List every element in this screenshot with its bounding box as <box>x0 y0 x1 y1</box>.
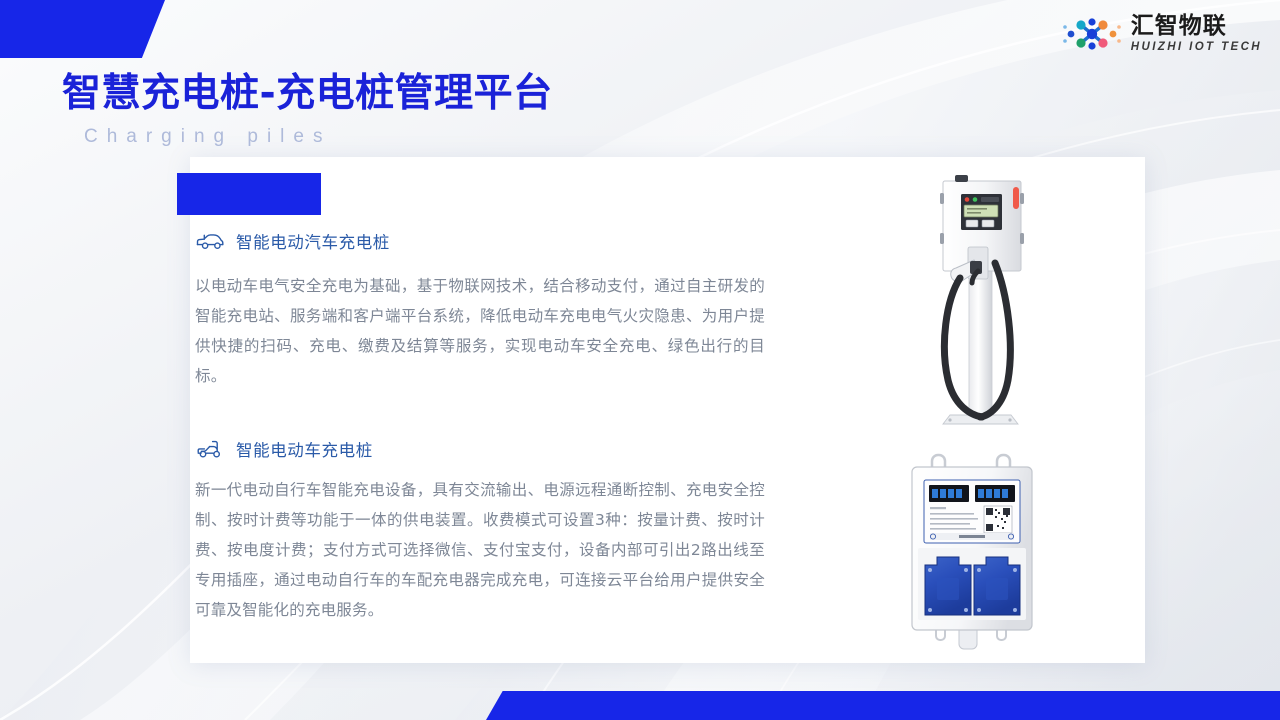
section-heading-car: 智能电动汽车充电桩 <box>190 229 765 253</box>
scooter-icon <box>195 438 225 460</box>
bottom-right-blue-wedge <box>486 691 1280 720</box>
ev-charging-pile-image <box>890 165 1105 430</box>
page-header: 智慧充电桩-充电桩管理平台 Charging piles 汇智物联 HUIZHI… <box>0 0 1280 160</box>
brand-name-en: HUIZHI IOT TECH <box>1131 42 1262 54</box>
section-body-ebike: 新一代电动自行车智能充电设备，具有交流输出、电源远程通断控制、充电安全控制、按时… <box>190 475 765 625</box>
car-icon <box>195 230 225 252</box>
brand-name-cn: 汇智物联 <box>1131 15 1227 38</box>
brand-text: 汇智物联 HUIZHI IOT TECH <box>1131 15 1262 54</box>
brand-logo: 汇智物联 HUIZHI IOT TECH <box>1061 14 1262 54</box>
network-nodes-icon <box>1061 14 1123 54</box>
section-car-charging-pile: 智能电动汽车充电桩 以电动车电气安全充电为基础，基于物联网技术，结合移动支付，通… <box>190 229 765 391</box>
section-tag-badge <box>177 173 321 215</box>
section-title-ebike: 智能电动车充电桩 <box>236 437 373 461</box>
content-card: 智能电动汽车充电桩 以电动车电气安全充电为基础，基于物联网技术，结合移动支付，通… <box>190 157 1145 663</box>
page-title: 智慧充电桩-充电桩管理平台 <box>62 62 553 118</box>
section-ebike-charging-pile: 智能电动车充电桩 新一代电动自行车智能充电设备，具有交流输出、电源远程通断控制、… <box>190 437 765 625</box>
section-title-car: 智能电动汽车充电桩 <box>236 229 390 253</box>
section-body-car: 以电动车电气安全充电为基础，基于物联网技术，结合移动支付，通过自主研发的智能充电… <box>190 271 765 391</box>
ev-charging-pile-illustration <box>890 165 1105 430</box>
wall-charger-illustration <box>885 447 1100 652</box>
section-heading-ebike: 智能电动车充电桩 <box>190 437 765 461</box>
page-subtitle: Charging piles <box>84 126 331 148</box>
wall-charger-image <box>885 447 1100 652</box>
